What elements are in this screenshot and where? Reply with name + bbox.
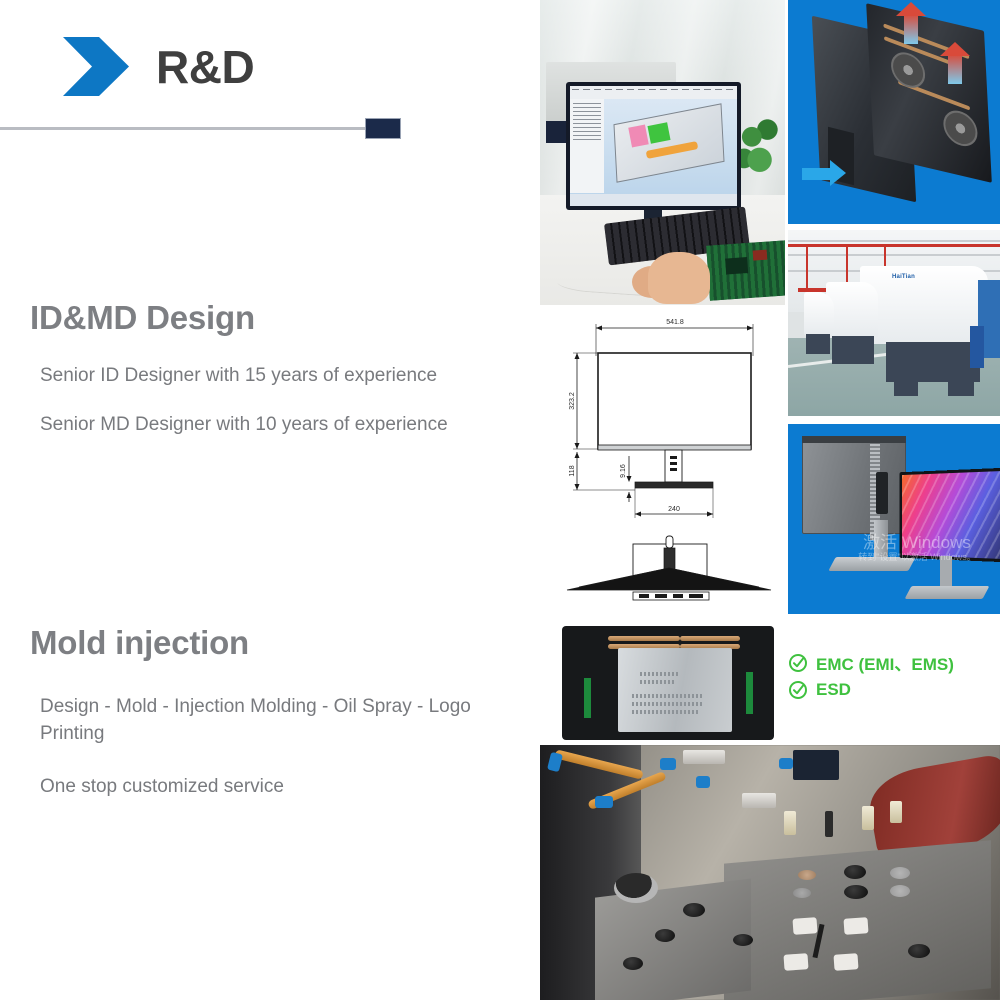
check-circle-icon [788, 680, 808, 700]
injection-molding-machine [804, 292, 834, 336]
monitor-rear-view [802, 436, 906, 534]
dim-screen-height: 323.2 [569, 392, 576, 410]
certifications-list: EMC (EMI、EMS) ESD [788, 650, 1000, 712]
header-divider [0, 118, 540, 140]
mold-cavity-insert [843, 918, 868, 936]
injection-molding-factory-photo: HaiTian [788, 230, 1000, 416]
nozzle-tip [784, 811, 796, 835]
locating-ring [614, 873, 658, 903]
emi-shield-plate [618, 648, 732, 732]
page-root: R&D ID&MD Design Senior ID Designer with… [0, 0, 1000, 1000]
cad-screen [570, 86, 737, 206]
cad-sidebar [570, 99, 604, 193]
monitor-column [874, 520, 888, 562]
airflow-out-arrow-icon [896, 2, 926, 46]
monitor-arm-clamp [876, 472, 888, 514]
certification-item: EMC (EMI、EMS) [788, 650, 1000, 675]
cooling-fan [943, 107, 979, 149]
front-monitor-base [905, 586, 990, 599]
monitor-rear-top-edge [802, 436, 906, 443]
monitor-front-view [899, 467, 1000, 562]
tube-fitting-blue [779, 758, 793, 769]
pneumatic-coupler [683, 750, 725, 764]
section-line: Senior MD Designer with 10 years of expe… [40, 412, 540, 439]
front-monitor-column [940, 556, 952, 590]
nozzle-tip [890, 801, 902, 823]
chassis-interior-panel [866, 3, 992, 183]
pcb-edge [584, 678, 591, 718]
dim-base-width: 240 [668, 506, 680, 513]
ceiling-crane-rail [788, 244, 1000, 247]
section-id-md-design: ID&MD Design Senior ID Designer with 15 … [0, 300, 540, 461]
cad-workstation-photo [540, 0, 785, 305]
section-body: Design - Mold - Injection Molding - Oil … [40, 694, 540, 801]
pcb-edge [746, 672, 753, 714]
monitor-product-render: 激活 Windows 转到"设置"以激活 Windows。 [788, 424, 1000, 614]
section-title: ID&MD Design [30, 300, 540, 336]
bolt-hole [844, 885, 868, 899]
monitor-base-plate [828, 557, 915, 571]
cooling-fan [890, 49, 926, 91]
certification-label: ESD [816, 680, 851, 700]
bolt-hole [908, 944, 930, 958]
nozzle-manifold [793, 750, 839, 780]
divider-accent-block [365, 118, 401, 139]
cad-component-pink [628, 125, 649, 148]
cad-model [613, 103, 724, 182]
chassis-body [562, 626, 774, 740]
tube-fitting-blue [696, 776, 710, 788]
hand-on-mouse [648, 252, 710, 304]
mold-tooling-photo [540, 745, 1000, 1000]
section-mold-injection: Mold injection Design - Mold - Injection… [0, 625, 540, 827]
section-line: Design - Mold - Injection Molding - Oil … [40, 694, 540, 748]
pneumatic-coupler [742, 793, 776, 808]
insert-hole [793, 888, 811, 898]
copper-insert [798, 870, 816, 880]
cad-toolbar [570, 86, 737, 99]
bolt-hole [655, 929, 675, 942]
nozzle [825, 811, 833, 837]
pcb-chip [753, 250, 768, 261]
bolt-hole [623, 957, 643, 970]
section-body: Senior ID Designer with 15 years of expe… [40, 363, 540, 439]
airflow-in-arrow-icon [802, 160, 848, 186]
bolt-hole [844, 865, 866, 879]
certification-item: ESD [788, 680, 1000, 700]
section-line: Senior ID Designer with 15 years of expe… [40, 363, 540, 390]
bolt-hole [733, 934, 753, 946]
airflow-out-arrow-icon [940, 42, 970, 86]
pcb-chip [725, 257, 748, 274]
device-interior-photo [552, 622, 784, 744]
cad-component-green [647, 122, 670, 143]
page-header: R&D [63, 33, 254, 100]
left-content-column: R&D ID&MD Design Senior ID Designer with… [0, 0, 540, 1000]
divider-line [0, 127, 380, 130]
insert-hole [890, 885, 910, 897]
certification-label: EMC (EMI、EMS) [816, 650, 954, 675]
monitor-dimension-drawing: 541.8 323.2 118 9.16 240 [563, 306, 785, 618]
nozzle-tip [862, 806, 874, 830]
mold-cavity-insert [792, 918, 817, 936]
injection-molding-machine [860, 266, 988, 344]
page-title: R&D [156, 44, 254, 90]
bolt-hole [683, 903, 705, 917]
tube-fitting-blue [595, 796, 613, 808]
pcb-board [706, 240, 785, 300]
dim-overall-width: 541.8 [666, 319, 684, 326]
machine-base [886, 342, 980, 382]
chevron-right-icon [63, 33, 129, 100]
mold-cavity-insert [783, 953, 808, 971]
section-title: Mold injection [30, 625, 540, 661]
machine-brand-logo: HaiTian [892, 274, 915, 280]
dim-stand-height: 118 [569, 465, 576, 476]
cad-statusbar [570, 194, 737, 206]
dim-base-thickness: 9.16 [620, 464, 627, 478]
check-circle-icon [788, 653, 808, 673]
section-line: One stop customized service [40, 774, 540, 801]
tube-fitting-blue [660, 758, 676, 770]
primary-monitor [566, 82, 741, 210]
thermal-airflow-diagram [788, 0, 1000, 224]
wallpaper-rays [902, 471, 1000, 560]
mold-cavity-insert [834, 953, 859, 971]
